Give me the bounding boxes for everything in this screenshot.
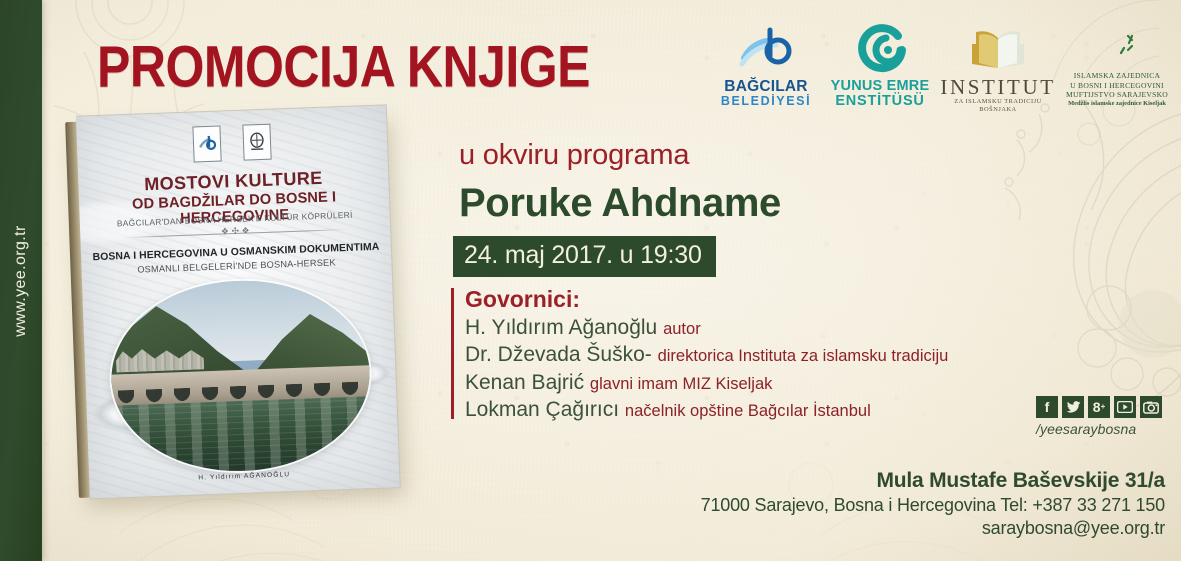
logo-izb-line3: MUFTIJSTVO SARAJEVSKO	[1056, 90, 1178, 100]
book-logo-row	[76, 119, 387, 166]
book-crest-logo-icon	[242, 124, 271, 161]
logo-yunus-line2: ENSTİTÜSÜ	[820, 94, 940, 109]
instagram-icon[interactable]	[1140, 396, 1162, 418]
facebook-icon[interactable]: f	[1036, 396, 1058, 418]
logo-izb-line1: ISLAMSKA ZAJEDNICA	[1056, 71, 1178, 81]
logo-izb-line2: U BOSNI I HERCEGOVINI	[1056, 81, 1178, 91]
crescent-star-icon	[1056, 26, 1178, 71]
book-front-face: MOSTOVI KULTURE OD BAGDŽILAR DO BOSNE I …	[76, 104, 401, 499]
page-title: PROMOCIJA KNJIGE	[97, 33, 590, 100]
speaker-row: Kenan Bajrić glavni imam MIZ Kiseljak	[465, 369, 1025, 396]
speakers-block: Govornici: H. Yıldırım Ağanoğlu autor Dr…	[451, 286, 1025, 423]
logo-bagcilar-line2: BELEDİYESİ	[710, 95, 822, 109]
logo-yunus-emre: YUNUS EMRE ENSTİTÜSÜ	[820, 24, 940, 109]
speaker-row: Lokman Çağırıcı načelnik opštine Bağcıla…	[465, 396, 1025, 423]
speaker-name: Lokman Çağırıcı	[465, 398, 619, 421]
youtube-icon[interactable]	[1114, 396, 1136, 418]
logo-bagcilar-line1: BAĞCILAR	[710, 79, 822, 95]
speaker-row: H. Yıldırım Ağanoğlu autor	[465, 314, 1025, 341]
open-book-icon	[936, 26, 1060, 77]
contact-city-tel: 71000 Sarajevo, Bosna i Hercegovina Tel:…	[701, 494, 1165, 517]
logo-institut: INSTITUT ZA ISLAMSKU TRADICIJU BOŠNJAKA	[936, 26, 1060, 113]
program-name: Poruke Ahdname	[459, 181, 781, 226]
logo-row: BAĞCILAR BELEDİYESİ YUNUS EMRE ENSTİTÜSÜ	[708, 20, 1178, 116]
logo-islamska-zajednica: ISLAMSKA ZAJEDNICA U BOSNI I HERCEGOVINI…	[1056, 26, 1178, 108]
bagcilar-mark-icon	[710, 24, 822, 79]
speakers-heading: Govornici:	[465, 286, 1025, 313]
speaker-role: autor	[663, 320, 701, 338]
website-url[interactable]: www.yee.org.tr	[12, 225, 30, 336]
social-block: f 8+ /yeesaraybosna	[1036, 396, 1162, 437]
speaker-name: Kenan Bajrić	[465, 371, 584, 394]
program-kicker: u okviru programa	[459, 139, 689, 172]
event-poster: www.yee.org.tr PROMOCIJA KNJIGE BAĞCILAR…	[0, 0, 1181, 561]
book-cover-photo-bridge	[108, 276, 373, 475]
social-icons: f 8+	[1036, 396, 1162, 418]
speaker-role: načelnik opštine Bağcılar İstanbul	[625, 402, 871, 420]
yunus-emre-mark-icon	[820, 24, 940, 79]
twitter-icon[interactable]	[1062, 396, 1084, 418]
logo-institut-line1: INSTITUT	[936, 77, 1060, 98]
logo-institut-line2: ZA ISLAMSKU TRADICIJU BOŠNJAKA	[936, 98, 1060, 113]
logo-izb-line4: Medžlis islamske zajednice Kiseljak	[1056, 100, 1178, 108]
speaker-role: direktorica Instituta za islamsku tradic…	[658, 347, 949, 365]
logo-bagcilar-belediyesi: BAĞCILAR BELEDİYESİ	[710, 24, 822, 109]
logo-yunus-line1: YUNUS EMRE	[820, 79, 940, 94]
social-handle[interactable]: /yeesaraybosna	[1036, 421, 1162, 437]
speaker-row: Dr. Dževada Šuško- direktorica Instituta…	[465, 341, 1025, 368]
speaker-role: glavni imam MIZ Kiseljak	[590, 375, 772, 393]
event-datetime-badge: 24. maj 2017. u 19:30	[453, 236, 716, 277]
contact-address: Mula Mustafe Baševskije 31/a	[701, 469, 1165, 494]
contact-block: Mula Mustafe Baševskije 31/a 71000 Saraj…	[701, 469, 1165, 539]
contact-email[interactable]: saraybosna@yee.org.tr	[701, 517, 1165, 540]
speaker-name: H. Yıldırım Ağanoğlu	[465, 316, 657, 339]
book-bagcilar-logo-icon	[192, 125, 221, 162]
photo-river	[113, 396, 373, 476]
book-cover: MOSTOVI KULTURE OD BAGDŽILAR DO BOSNE I …	[65, 104, 409, 508]
left-green-bar: www.yee.org.tr	[0, 0, 42, 561]
speaker-name: Dr. Dževada Šuško-	[465, 343, 652, 366]
google-plus-icon[interactable]: 8+	[1088, 396, 1110, 418]
